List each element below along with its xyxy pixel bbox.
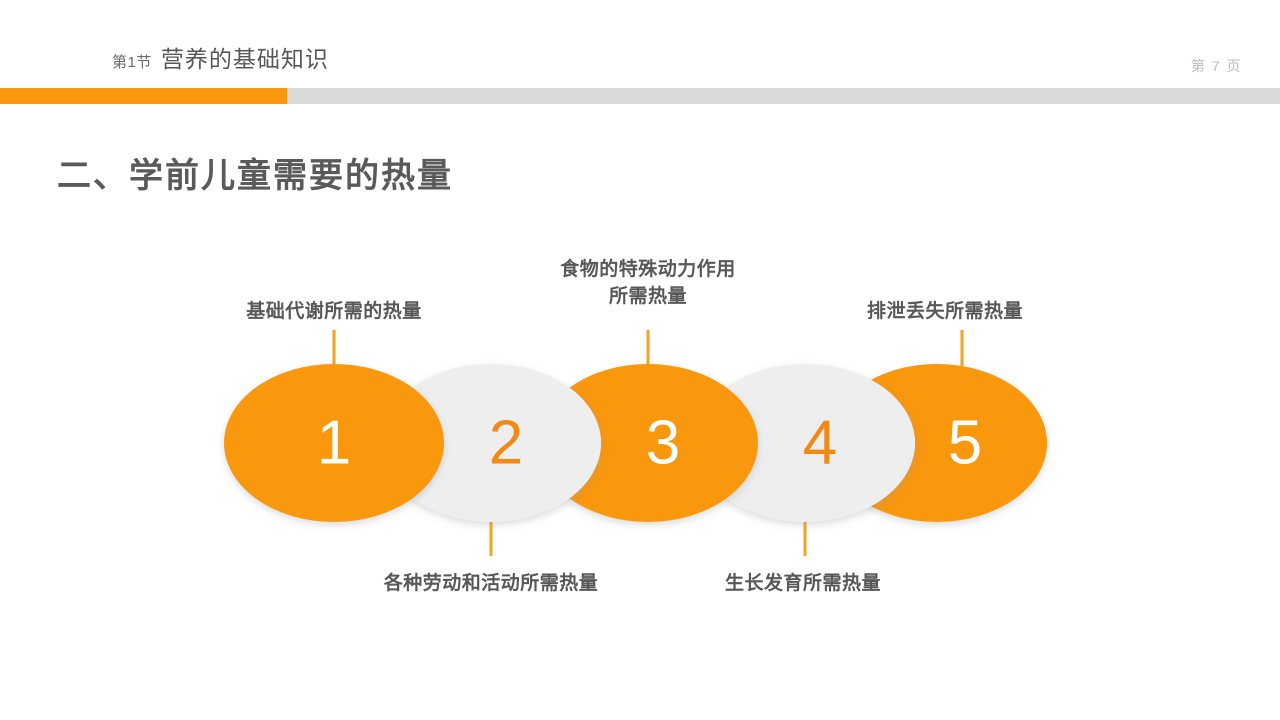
- node-label-4: 生长发育所需热量: [725, 570, 881, 598]
- node-label-2: 各种劳动和活动所需热量: [384, 570, 599, 598]
- node-label-5: 排泄丢失所需热量: [867, 298, 1023, 326]
- node-label-3-line1: 食物的特殊动力作用: [560, 256, 736, 283]
- node-label-1: 基础代谢所需的热量: [246, 298, 422, 326]
- connector-line-3: [647, 330, 650, 366]
- connector-line-1: [333, 330, 336, 366]
- slide-header: 第1节 营养的基础知识 第 7 页: [0, 0, 1280, 104]
- header-section-title: 营养的基础知识: [161, 40, 329, 74]
- page-indicator: 第 7 页: [1191, 56, 1242, 76]
- connector-line-2: [490, 520, 493, 556]
- node-number-1: 1: [317, 409, 351, 478]
- node-number-5: 5: [948, 409, 982, 478]
- node-number-2: 2: [489, 409, 523, 478]
- node-label-3-line2: 所需热量: [560, 283, 736, 310]
- header-title: 第1节 营养的基础知识: [112, 40, 329, 74]
- node-number-3: 3: [646, 409, 680, 478]
- header-section-number: 第1节: [112, 51, 152, 72]
- page-title: 二、学前儿童需要的热量: [57, 148, 453, 197]
- connector-line-4: [804, 520, 807, 556]
- node-number-4: 4: [803, 409, 837, 478]
- connector-line-5: [961, 330, 964, 366]
- header-rule-accent: [0, 88, 287, 104]
- node-label-3: 食物的特殊动力作用 所需热量: [560, 256, 736, 310]
- energy-requirement-diagram: 1 2 3 4 5 基础代谢所需的热量 食物的特殊动力作用 所需热量 排泄丢失所…: [0, 240, 1280, 620]
